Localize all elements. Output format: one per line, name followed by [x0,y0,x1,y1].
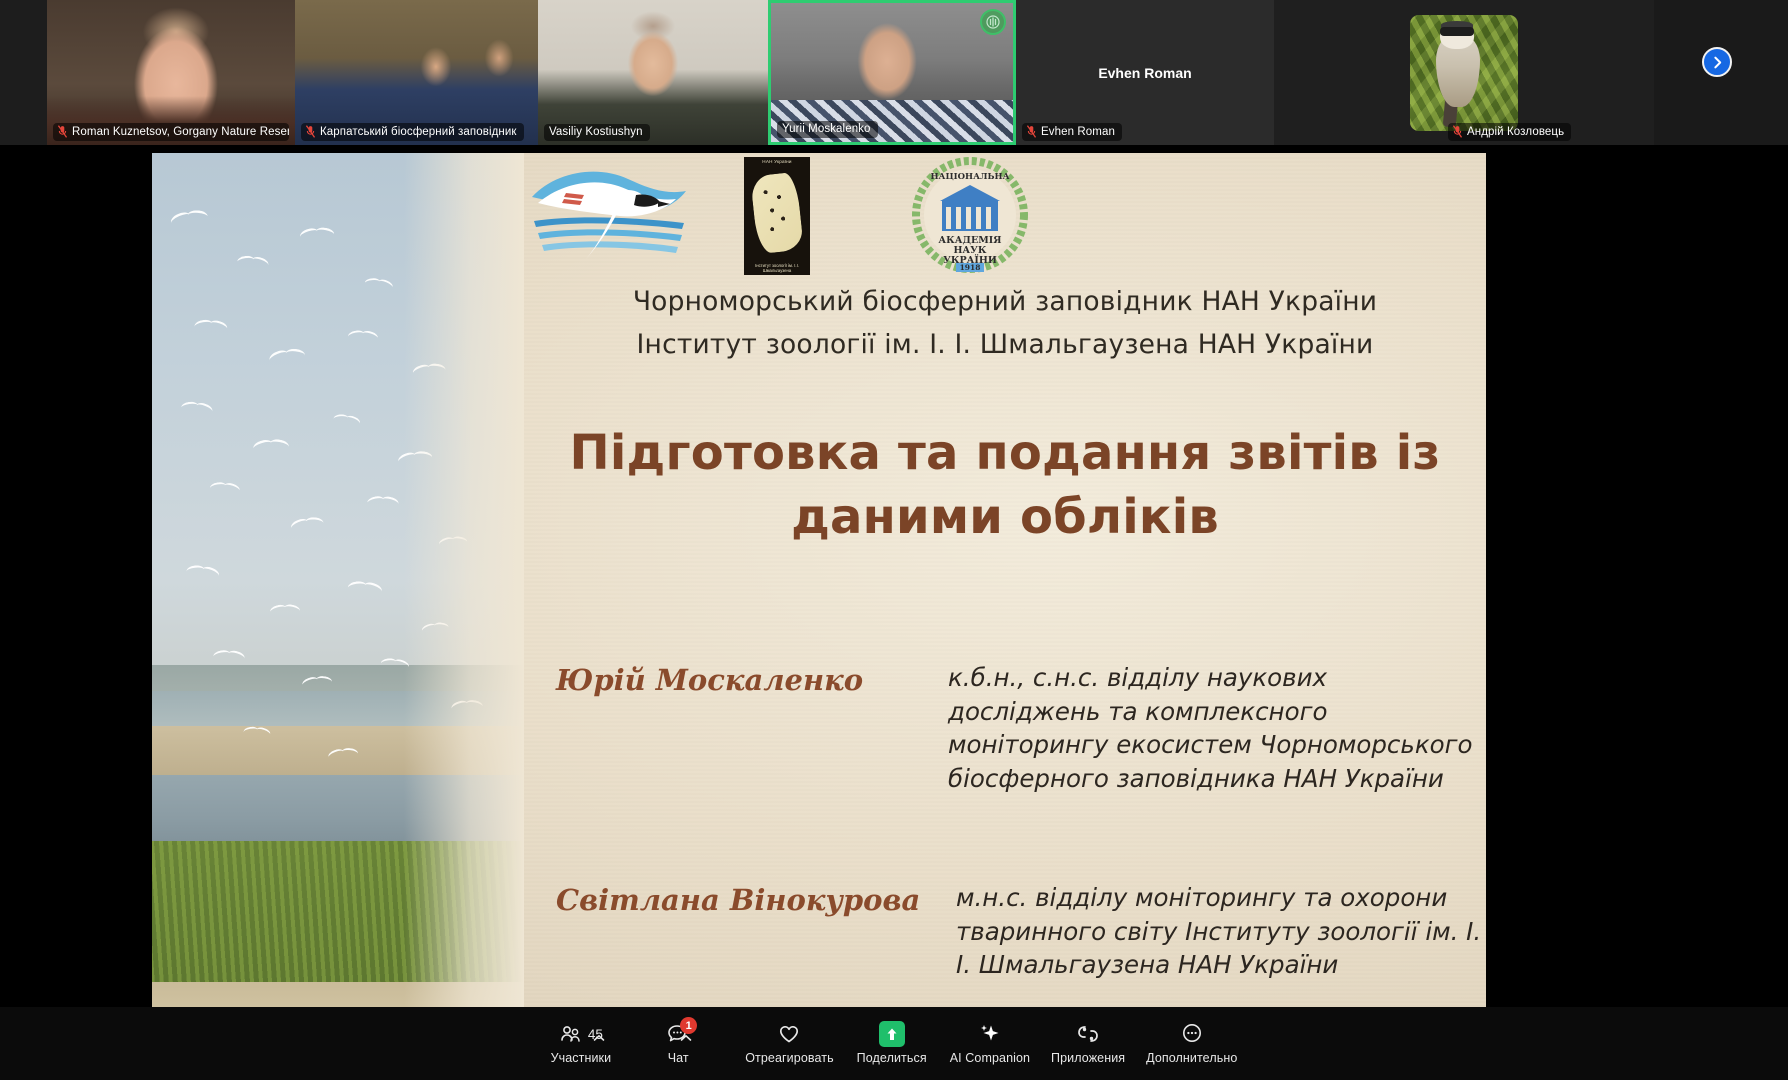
next-page-button[interactable] [1702,47,1732,77]
avatar [1410,15,1518,131]
video-tile-evhen-roman[interactable]: Evhen Roman Evhen Roman [1016,0,1274,145]
toolbar-apps-button[interactable]: Приложения [1040,1013,1136,1075]
toolbar-apps-label: Приложения [1051,1051,1125,1065]
org-line-1: Чорноморський біосферний заповідник НАН … [524,281,1486,324]
tile-name-text: Yurii Moskalenko [782,123,871,135]
black-sea-reserve-gull-logo [524,163,694,273]
toolbar-participants-button[interactable]: 45 Участники [541,1013,640,1075]
zoo-logo-top-text: НАН України [762,159,791,164]
meeting-toolbar: 45 Участники 1 Чат [0,1007,1788,1080]
audio-wave-icon [985,14,1001,30]
video-tile-andrii-kozlovets[interactable]: Андрій Козловець [1274,0,1654,145]
chat-unread-badge: 1 [680,1017,697,1034]
presenter-role: к.б.н., с.н.с. відділу наукових дослідже… [948,661,1486,795]
presenter-row: Юрій Москаленко к.б.н., с.н.с. відділу н… [556,661,1486,795]
org-line-2: Інститут зоології ім. І. І. Шмальгаузена… [524,324,1486,367]
svg-text:НАЦІОНАЛЬНА: НАЦІОНАЛЬНА [931,172,1010,182]
toolbar-reactions-button[interactable]: Отреагировать [735,1013,843,1075]
chevron-right-icon [1711,56,1724,69]
slide-photo-birds-beach [152,153,524,1035]
toolbar-participants-label: Участники [551,1051,612,1065]
participants-icon: 45 [559,1022,603,1046]
chat-bubble-icon: 1 [666,1022,690,1046]
video-tile-vasiliy-kostiushyn[interactable]: Vasiliy Kostiushyn [538,0,768,145]
toolbar-more-label: Дополнительно [1146,1051,1237,1065]
zoom-meeting-window: Roman Kuznetsov, Gorgany Nature Reserve … [0,0,1788,1080]
shared-screen-stage: НАН України Інститут зоології ім. І.І. Ш… [0,145,1788,1035]
sparkle-icon [978,1022,1002,1046]
filmstrip-left-pad [0,0,47,145]
apps-icon [1075,1022,1101,1046]
presenter-name: Світлана Вінокурова [556,881,956,918]
microphone-muted-icon [306,125,315,138]
speaking-indicator-icon [980,9,1006,35]
presenter-role: м.н.с. відділу моніторингу та охорони тв… [956,881,1486,982]
toolbar-share-label: Поделиться [857,1051,927,1065]
heart-icon [777,1022,801,1046]
tile-name-badge: Vasiliy Kostiushyn [544,124,650,141]
tile-name-text: Roman Kuznetsov, Gorgany Nature Reserve [72,126,289,138]
nas-ukraine-emblem: НАЦІОНАЛЬНА АКАДЕМІЯ НАУК УКРАЇНИ 1918 [912,157,1028,273]
ellipsis-icon [1180,1022,1204,1046]
share-screen-icon [879,1022,905,1046]
toolbar-share-screen-button[interactable]: Поделиться [844,1013,940,1075]
slide-presenters: Юрій Москаленко к.б.н., с.н.с. відділу н… [556,661,1486,982]
presentation-slide[interactable]: НАН України Інститут зоології ім. І.І. Ш… [152,153,1486,1035]
presenter-name: Юрій Москаленко [556,661,948,698]
microphone-muted-icon [1453,125,1462,138]
slide-org-header: Чорноморський біосферний заповідник НАН … [524,281,1486,367]
tile-name-text: Карпатський біосферний заповідник [320,126,517,138]
microphone-muted-icon [1027,125,1036,138]
salamander-icon [750,172,804,254]
microphone-muted-icon [58,125,67,138]
toolbar-ai-companion-label: AI Companion [950,1051,1030,1065]
slide-title-line-1: Підготовка та подання звітів із [524,421,1486,485]
tile-name-badge: Evhen Roman [1022,123,1122,141]
tile-name-badge: Карпатський біосферний заповідник [301,123,524,141]
tile-name-badge: Roman Kuznetsov, Gorgany Nature Reserve [53,123,289,141]
toolbar-chat-label: Чат [668,1051,689,1065]
toolbar-ai-companion-button[interactable]: AI Companion [940,1013,1040,1075]
tile-name-text: Vasiliy Kostiushyn [549,126,643,138]
zoo-logo-bottom-text: Інститут зоології ім. І.І. Шмальгаузена [744,263,810,274]
chevron-up-icon[interactable] [680,1034,692,1042]
toolbar-chat-button[interactable]: 1 Чат [639,1013,735,1075]
tile-name-badge: Андрій Козловець [1448,123,1571,141]
video-tile-roman-kuznetsov[interactable]: Roman Kuznetsov, Gorgany Nature Reserve [47,0,295,145]
chevron-up-icon[interactable] [593,1034,605,1042]
video-tile-karpatskyi-reserve[interactable]: Карпатський біосферний заповідник [295,0,538,145]
institute-of-zoology-logo: НАН України Інститут зоології ім. І.І. Ш… [744,157,810,275]
video-tile-yurii-moskalenko[interactable]: Yurii Moskalenko [768,0,1016,145]
slide-title-line-2: даними обліків [524,485,1486,549]
toolbar-reactions-label: Отреагировать [745,1051,833,1065]
avatar-bird-mask [1440,27,1474,36]
svg-text:1918: 1918 [960,263,981,272]
presenter-row: Світлана Вінокурова м.н.с. відділу моніт… [556,881,1486,982]
slide-title: Підготовка та подання звітів із даними о… [524,421,1486,550]
tile-name-badge: Yurii Moskalenko [777,121,878,138]
participant-filmstrip: Roman Kuznetsov, Gorgany Nature Reserve … [0,0,1788,145]
tile-name-text: Evhen Roman [1041,126,1115,138]
tile-name-text: Андрій Козловець [1467,126,1564,138]
toolbar-more-button[interactable]: Дополнительно [1136,1013,1247,1075]
photo-right-fade [404,153,524,1035]
